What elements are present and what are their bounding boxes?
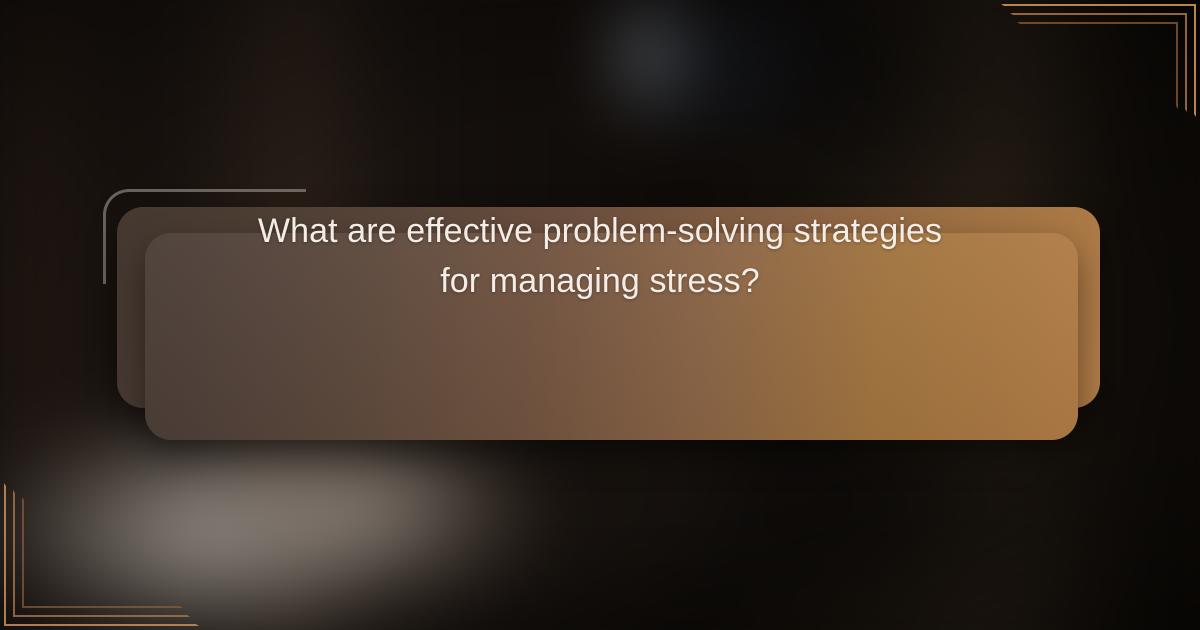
question-card-stack: What are effective problem-solving strat… [0,0,1200,630]
screenshot-canvas: What are effective problem-solving strat… [0,0,1200,630]
question-text: What are effective problem-solving strat… [175,206,1025,306]
